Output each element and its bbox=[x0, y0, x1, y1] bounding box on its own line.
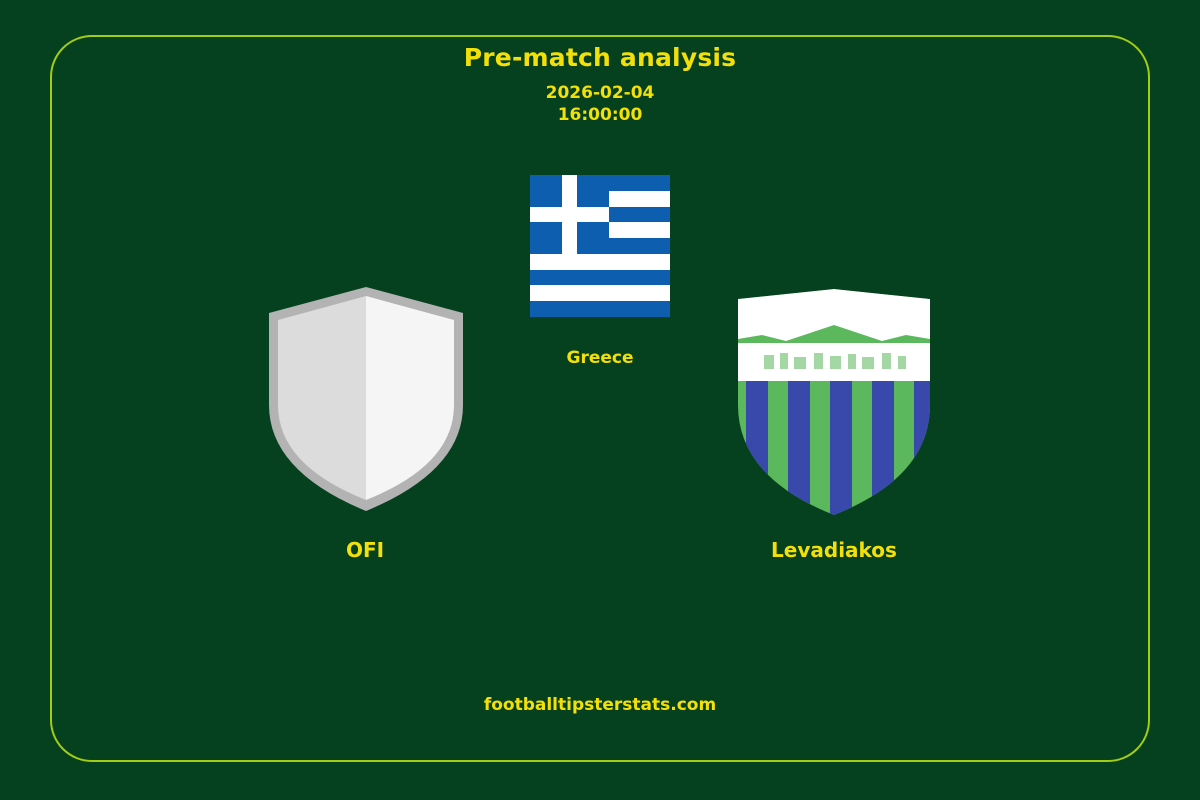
pre-match-analysis-card: Pre-match analysis 2026-02-04 16:00:00 G… bbox=[0, 0, 1200, 800]
footer-site-url: footballtipsterstats.com bbox=[0, 695, 1200, 715]
home-team-crest bbox=[264, 285, 468, 513]
away-team-crest bbox=[730, 285, 938, 517]
away-team-name: Levadiakos bbox=[734, 538, 934, 562]
country-name: Greece bbox=[500, 348, 700, 368]
flag-stripe bbox=[530, 254, 670, 270]
greece-flag-icon bbox=[530, 175, 670, 317]
country-flag bbox=[530, 175, 670, 317]
home-team-name: OFI bbox=[265, 538, 465, 562]
card-border bbox=[50, 35, 1150, 762]
crest-right-face bbox=[366, 296, 454, 500]
flag-cross-horizontal bbox=[530, 207, 609, 223]
placeholder-shield-crest-icon bbox=[264, 285, 468, 513]
flag-stripe bbox=[530, 285, 670, 301]
crest-left-face bbox=[278, 296, 366, 500]
levadiakos-shield-crest-icon bbox=[730, 285, 938, 517]
